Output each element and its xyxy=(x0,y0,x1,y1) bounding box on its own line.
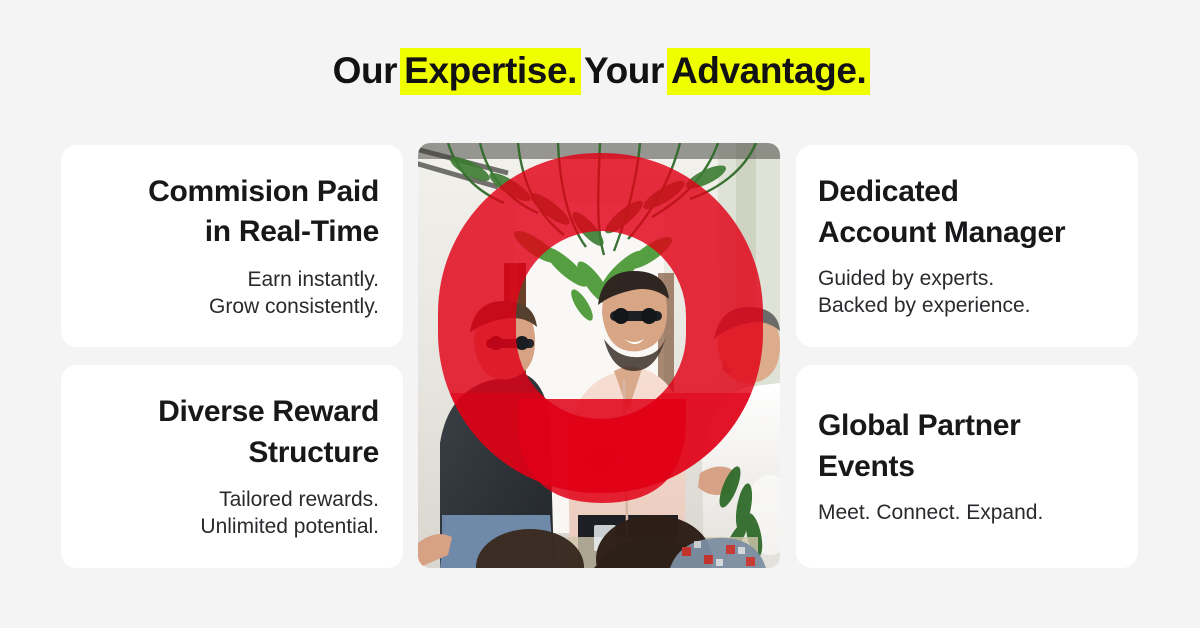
feature-card-partner-events[interactable]: Global Partner Events Meet. Connect. Exp… xyxy=(796,365,1138,568)
card-subtitle: Tailored rewards. Unlimited potential. xyxy=(85,487,379,541)
card-subtitle: Guided by experts. Backed by experience. xyxy=(818,266,1114,320)
headline-part-2: Your xyxy=(581,50,667,91)
headline-part-1: Our xyxy=(330,50,401,91)
feature-card-account-manager[interactable]: Dedicated Account Manager Guided by expe… xyxy=(796,145,1138,347)
page-title: OurExpertise.YourAdvantage. xyxy=(0,0,1200,140)
feature-card-commission[interactable]: Commision Paid in Real-Time Earn instant… xyxy=(61,145,403,347)
card-title: Diverse Reward Structure xyxy=(85,392,379,473)
card-subtitle: Meet. Connect. Expand. xyxy=(818,500,1114,527)
card-subtitle: Earn instantly. Grow consistently. xyxy=(85,267,379,321)
card-title: Dedicated Account Manager xyxy=(818,172,1114,253)
headline-highlight-expertise: Expertise. xyxy=(400,48,581,95)
card-title: Global Partner Events xyxy=(818,406,1114,487)
feature-card-rewards[interactable]: Diverse Reward Structure Tailored reward… xyxy=(61,365,403,568)
hero-photo xyxy=(418,143,780,568)
headline-highlight-advantage: Advantage. xyxy=(667,48,870,95)
card-title: Commision Paid in Real-Time xyxy=(85,172,379,253)
hero-photo-illustration xyxy=(418,143,780,568)
red-letter-o-overlay xyxy=(418,143,780,568)
